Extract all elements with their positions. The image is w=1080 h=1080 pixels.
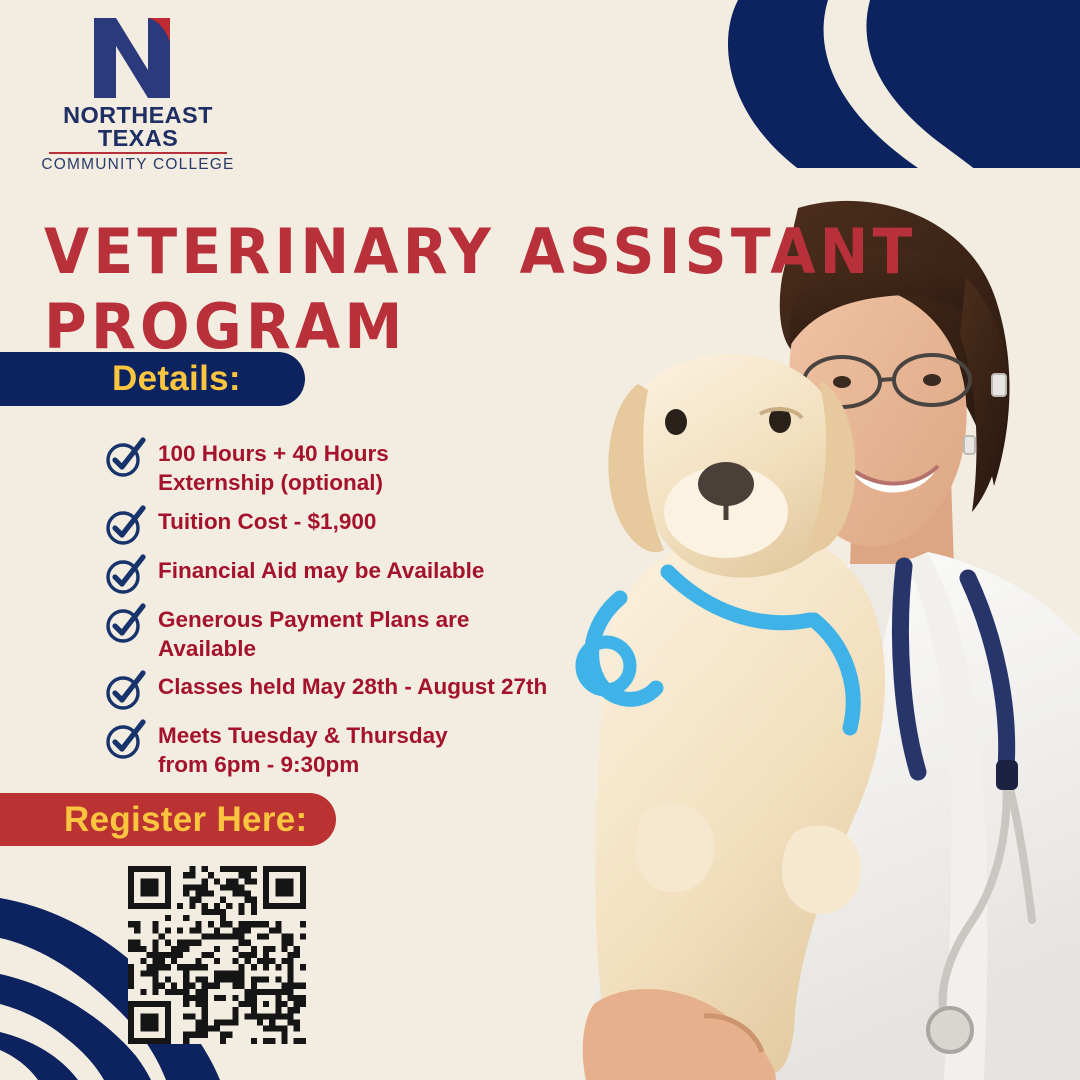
list-item: Generous Payment Plans are Available xyxy=(104,602,574,664)
logo-divider xyxy=(49,152,227,154)
page-title: VETERINARY ASSISTANT PROGRAM xyxy=(44,214,758,365)
list-item: Classes held May 28th - August 27th xyxy=(104,669,574,712)
logo-line-2: COMMUNITY COLLEGE xyxy=(38,157,238,173)
list-item-label: Classes held May 28th - August 27th xyxy=(158,669,547,701)
list-item-label: Financial Aid may be Available xyxy=(158,553,484,585)
details-banner: Details: xyxy=(0,352,305,406)
list-item: Financial Aid may be Available xyxy=(104,553,574,596)
logo-wordmark: NORTHEAST TEXAS COMMUNITY COLLEGE xyxy=(38,104,238,173)
list-item: Tuition Cost - $1,900 xyxy=(104,504,574,547)
list-item-label: 100 Hours + 40 Hours Externship (optiona… xyxy=(158,436,389,498)
details-list: 100 Hours + 40 Hours Externship (optiona… xyxy=(104,436,574,786)
logo-line-1: NORTHEAST TEXAS xyxy=(36,104,240,150)
check-circle-icon xyxy=(104,437,146,479)
check-circle-icon xyxy=(104,603,146,645)
check-circle-icon xyxy=(104,670,146,712)
list-item-label: Tuition Cost - $1,900 xyxy=(158,504,376,536)
qr-code-icon[interactable] xyxy=(128,866,306,1044)
check-circle-icon xyxy=(104,554,146,596)
list-item-label: Generous Payment Plans are Available xyxy=(158,602,469,664)
ntcc-logo: NORTHEAST TEXAS COMMUNITY COLLEGE xyxy=(38,12,238,144)
list-item: Meets Tuesday & Thursday from 6pm - 9:30… xyxy=(104,718,574,780)
logo-n-mark-icon xyxy=(86,12,178,104)
registration-qr-code[interactable] xyxy=(128,866,306,1044)
register-banner: Register Here: xyxy=(0,793,336,846)
check-circle-icon xyxy=(104,505,146,547)
title-line-1: VETERINARY ASSISTANT xyxy=(44,214,758,290)
poster-canvas: NORTHEAST TEXAS COMMUNITY COLLEGE VETERI… xyxy=(0,0,1080,1080)
list-item-label: Meets Tuesday & Thursday from 6pm - 9:30… xyxy=(158,718,448,780)
list-item: 100 Hours + 40 Hours Externship (optiona… xyxy=(104,436,574,498)
check-circle-icon xyxy=(104,719,146,761)
